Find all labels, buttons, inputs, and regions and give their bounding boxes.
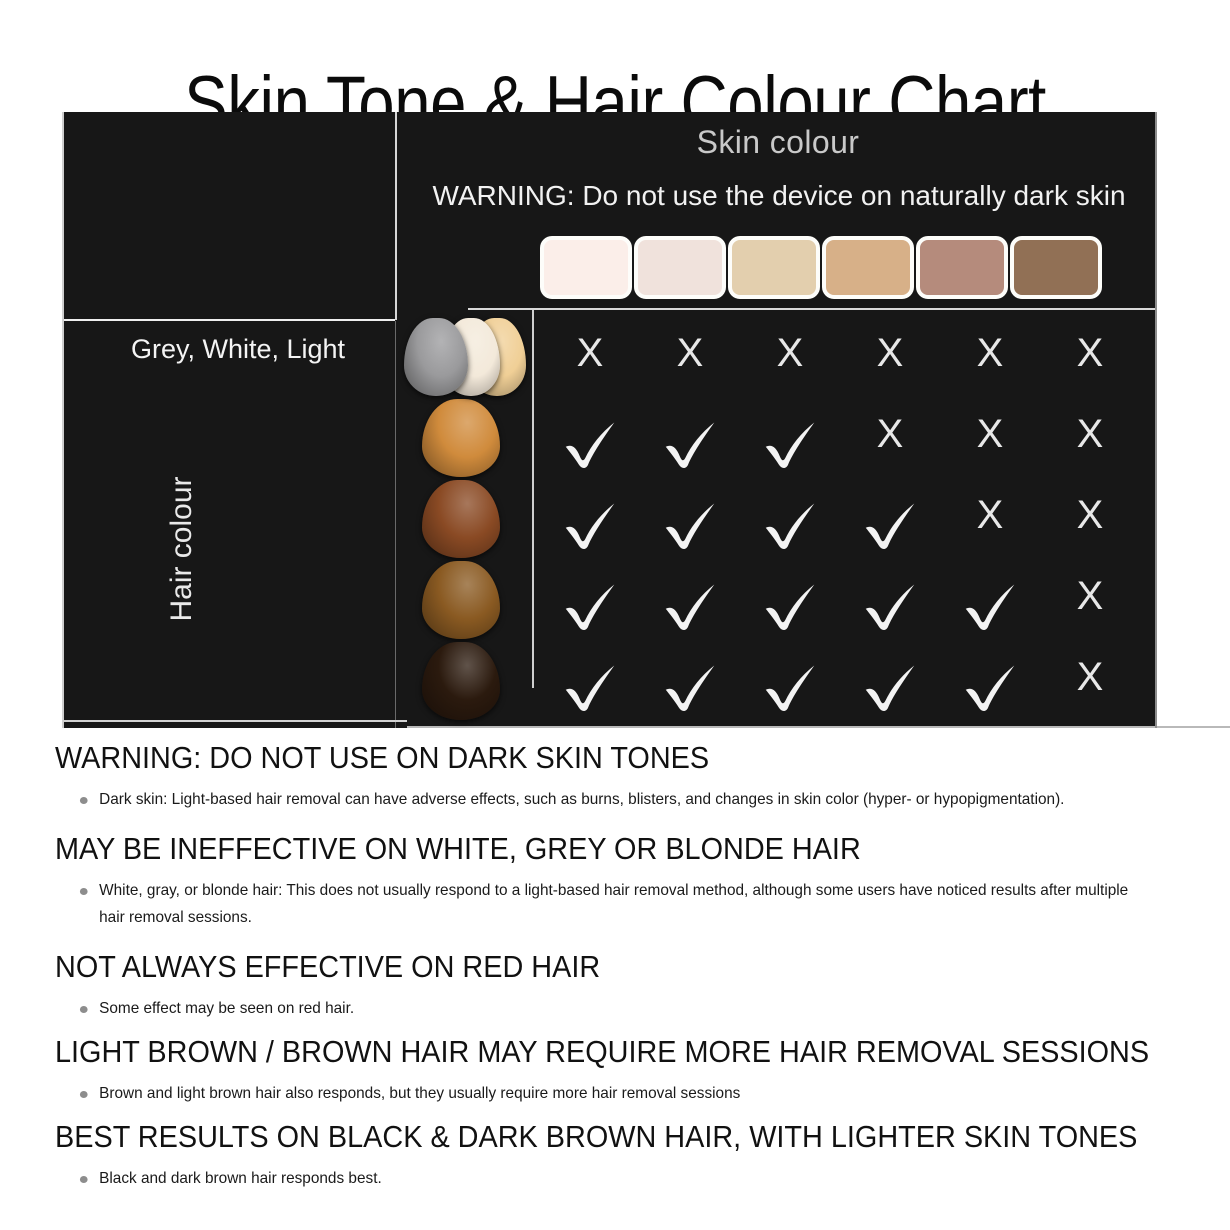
note-bullet-4: Brown and light brown hair also responds… [78, 1080, 1141, 1107]
matrix-row-grey-white-light: XXXXXX [540, 324, 1140, 405]
check-icon [862, 577, 918, 633]
note-bullet-5: Black and dark brown hair responds best. [78, 1165, 1141, 1192]
skin-tone-6-swatch [1010, 236, 1102, 299]
x-icon: X [1040, 324, 1140, 378]
x-icon: X [1040, 567, 1140, 621]
note-section-1: WARNING: DO NOT USE ON DARK SKIN TONESDa… [0, 740, 1230, 813]
x-icon: X [1040, 648, 1140, 702]
skin-tone-4-swatch [822, 236, 914, 299]
check-icon [662, 577, 718, 633]
matrix-cell-r4-c1[interactable] [540, 567, 640, 648]
matrix-cell-r2-c6[interactable]: X [1040, 405, 1140, 486]
matrix-cell-r2-c5[interactable]: X [940, 405, 1040, 486]
check-icon [562, 496, 618, 552]
matrix-cell-r4-c6[interactable]: X [1040, 567, 1140, 648]
hair-swatch-row-grey-white-light [402, 318, 530, 399]
check-icon [962, 658, 1018, 714]
matrix-cell-r3-c4[interactable] [840, 486, 940, 567]
x-icon: X [940, 324, 1040, 378]
skin-colour-heading: Skin colour [398, 124, 1158, 161]
matrix-cell-r5-c5[interactable] [940, 648, 1040, 729]
hair-column-divider [395, 321, 396, 728]
skin-hair-chart-panel: Skin colour WARNING: Do not use the devi… [62, 112, 1157, 728]
check-icon [662, 415, 718, 471]
check-icon [562, 577, 618, 633]
matrix-row-red-auburn: XX [540, 486, 1140, 567]
matrix-cell-r4-c2[interactable] [640, 567, 740, 648]
skin-tone-1-swatch [540, 236, 632, 299]
matrix-cell-r2-c4[interactable]: X [840, 405, 940, 486]
suitability-matrix: XXXXXXXXXXXXX [540, 324, 1140, 729]
matrix-cell-r3-c6[interactable]: X [1040, 486, 1140, 567]
hair-swatch-row-red-auburn [402, 480, 530, 561]
matrix-cell-r5-c1[interactable] [540, 648, 640, 729]
matrix-vertical-divider [532, 310, 534, 688]
matrix-cell-r1-c3[interactable]: X [740, 324, 840, 405]
check-icon [862, 496, 918, 552]
matrix-cell-r3-c1[interactable] [540, 486, 640, 567]
matrix-cell-r2-c1[interactable] [540, 405, 640, 486]
matrix-cell-r4-c3[interactable] [740, 567, 840, 648]
note-heading-1: WARNING: DO NOT USE ON DARK SKIN TONES [55, 740, 1148, 776]
matrix-cell-r5-c6[interactable]: X [1040, 648, 1140, 729]
check-icon [762, 496, 818, 552]
note-heading-5: BEST RESULTS ON BLACK & DARK BROWN HAIR,… [55, 1119, 1148, 1155]
check-icon [562, 658, 618, 714]
x-icon: X [940, 486, 1040, 540]
hair-row-label-grey-white-light: Grey, White, Light [88, 334, 388, 365]
note-bullet-3: Some effect may be seen on red hair. [78, 995, 1141, 1022]
check-icon [662, 658, 718, 714]
note-heading-3: NOT ALWAYS EFFECTIVE ON RED HAIR [55, 949, 1148, 985]
check-icon [862, 658, 918, 714]
skin-header-horizontal-divider [468, 308, 1157, 310]
skin-tone-5-swatch [916, 236, 1008, 299]
note-section-5: BEST RESULTS ON BLACK & DARK BROWN HAIR,… [0, 1119, 1230, 1192]
x-icon: X [540, 324, 640, 378]
x-icon: X [740, 324, 840, 378]
hair-swatch-row-blonde [402, 399, 530, 480]
matrix-cell-r3-c3[interactable] [740, 486, 840, 567]
hair-swatch-column [402, 318, 530, 723]
check-icon [762, 658, 818, 714]
note-section-2: MAY BE INEFFECTIVE ON WHITE, GREY OR BLO… [0, 831, 1230, 931]
matrix-cell-r1-c4[interactable]: X [840, 324, 940, 405]
note-heading-2: MAY BE INEFFECTIVE ON WHITE, GREY OR BLO… [55, 831, 1148, 867]
note-section-3: NOT ALWAYS EFFECTIVE ON RED HAIRSome eff… [0, 949, 1230, 1022]
skin-tone-2-swatch [634, 236, 726, 299]
x-icon: X [640, 324, 740, 378]
matrix-cell-r1-c6[interactable]: X [1040, 324, 1140, 405]
matrix-cell-r2-c3[interactable] [740, 405, 840, 486]
matrix-cell-r5-c3[interactable] [740, 648, 840, 729]
hair-swatch-row-dark-brown-black [402, 642, 530, 723]
hair-swatch-grey-white-light-1 [404, 318, 468, 396]
matrix-cell-r2-c2[interactable] [640, 405, 740, 486]
check-icon [762, 415, 818, 471]
matrix-cell-r4-c4[interactable] [840, 567, 940, 648]
x-icon: X [1040, 486, 1140, 540]
hair-swatch-red-auburn-1 [422, 480, 500, 558]
matrix-cell-r1-c1[interactable]: X [540, 324, 640, 405]
left-header-horizontal-divider [62, 319, 395, 321]
x-icon: X [940, 405, 1040, 459]
hair-colour-axis-label: Hair colour [165, 399, 199, 699]
x-icon: X [840, 405, 940, 459]
panel-bottom-edge-left [62, 720, 407, 722]
hair-swatch-light-brown-1 [422, 561, 500, 639]
matrix-row-blonde: XXX [540, 405, 1140, 486]
matrix-cell-r3-c5[interactable]: X [940, 486, 1040, 567]
hair-swatch-blonde-1 [422, 399, 500, 477]
check-icon [562, 415, 618, 471]
check-icon [962, 577, 1018, 633]
matrix-cell-r1-c2[interactable]: X [640, 324, 740, 405]
skin-dark-warning-text: WARNING: Do not use the device on natura… [398, 180, 1160, 212]
notes-section: WARNING: DO NOT USE ON DARK SKIN TONESDa… [0, 740, 1230, 1204]
x-icon: X [840, 324, 940, 378]
x-icon: X [1040, 405, 1140, 459]
skin-swatch-row [540, 236, 1102, 299]
note-bullet-2: White, gray, or blonde hair: This does n… [78, 877, 1141, 931]
check-icon [662, 496, 718, 552]
note-heading-4: LIGHT BROWN / BROWN HAIR MAY REQUIRE MOR… [55, 1034, 1148, 1070]
matrix-cell-r3-c2[interactable] [640, 486, 740, 567]
matrix-cell-r5-c4[interactable] [840, 648, 940, 729]
matrix-cell-r1-c5[interactable]: X [940, 324, 1040, 405]
matrix-cell-r4-c5[interactable] [940, 567, 1040, 648]
matrix-row-light-brown: X [540, 567, 1140, 648]
check-icon [762, 577, 818, 633]
note-section-4: LIGHT BROWN / BROWN HAIR MAY REQUIRE MOR… [0, 1034, 1230, 1107]
skin-tone-3-swatch [728, 236, 820, 299]
hair-swatch-row-light-brown [402, 561, 530, 642]
matrix-row-dark-brown-black: X [540, 648, 1140, 729]
hair-swatch-dark-brown-black-1 [422, 642, 500, 720]
matrix-cell-r5-c2[interactable] [640, 648, 740, 729]
note-bullet-1: Dark skin: Light-based hair removal can … [78, 786, 1141, 813]
header-vertical-divider [395, 112, 397, 320]
